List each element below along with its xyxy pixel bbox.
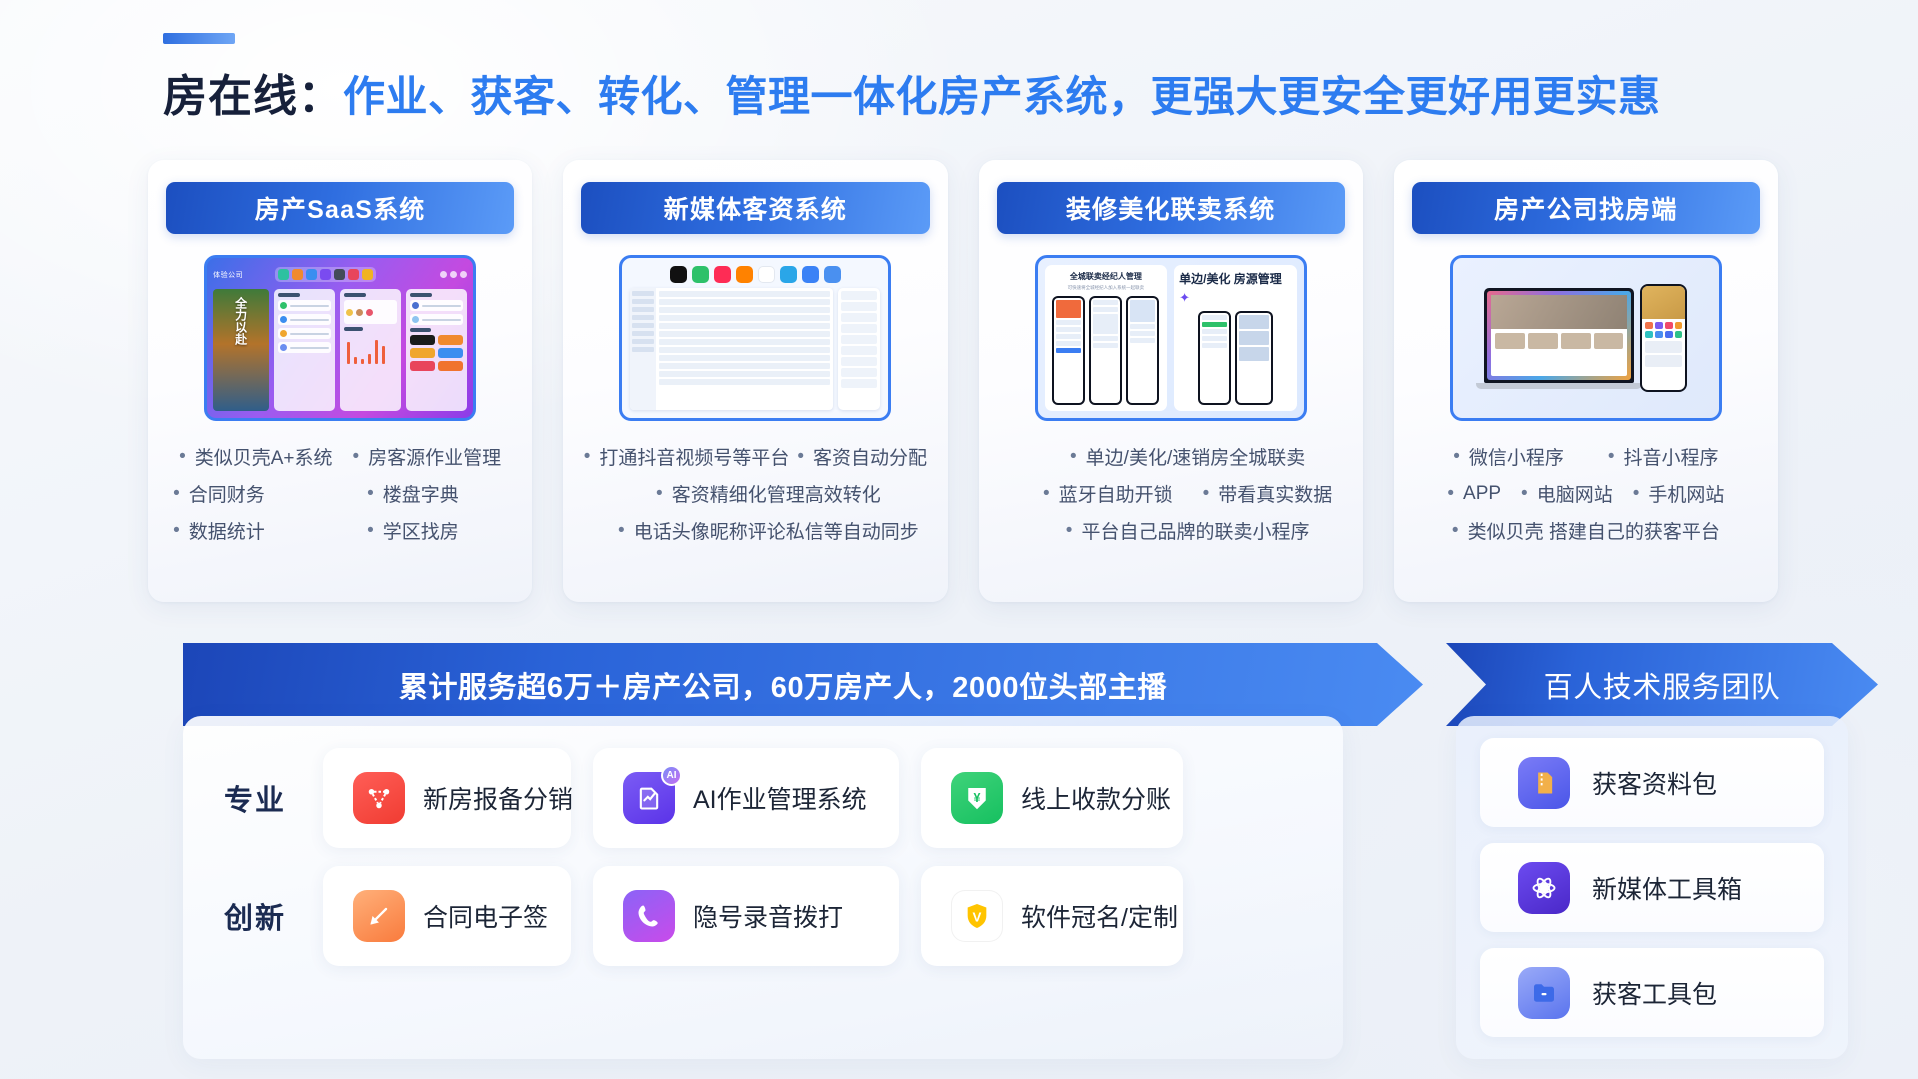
deco-left-sub: 可快速将全城经纪人加入系统一起联卖: [1068, 285, 1145, 291]
snowflake-icon: [802, 266, 819, 283]
video-icon: [780, 266, 797, 283]
bullet-row: 单边/美化/速销房全城联卖: [1036, 443, 1305, 470]
sparkle-icon: ✦: [1179, 290, 1190, 306]
product-card-decoration[interactable]: 装修美化联卖系统 全城联卖经纪人管理 可快速将全城经纪人加入系统一起联卖 单边/…: [979, 160, 1363, 602]
bullet-row: 电话头像昵称评论私信等自动同步: [592, 517, 919, 544]
bullet-item: 抖音小程序: [1608, 443, 1719, 470]
laptop-mockup: [1484, 288, 1634, 389]
dock-icon-v: [362, 269, 373, 280]
bullet-row: 类似贝壳 搭建自己的获客平台: [1452, 517, 1720, 544]
link-icon: [824, 266, 841, 283]
accent-bar: [163, 33, 235, 44]
dock-icon-home: [278, 269, 289, 280]
toolkit-chip-label: 获客工具包: [1592, 975, 1717, 1011]
card-bullets-portal: 微信小程序 抖音小程序 APP 电脑网站 手机网站 类似贝壳 搭建自己的获客平台: [1412, 443, 1760, 544]
page-title: 房在线： 作业、获客、转化、管理一体化房产系统，更强大更安全更好用更实惠: [163, 60, 1661, 124]
e-signature-pen-icon: [353, 890, 405, 942]
feature-chip-esign[interactable]: 合同电子签: [323, 866, 571, 966]
feature-chip-label: 隐号录音拨打: [693, 898, 843, 934]
svg-text:V: V: [973, 909, 982, 924]
poster-root: 房在线： 作业、获客、转化、管理一体化房产系统，更强大更安全更好用更实惠 房产S…: [0, 0, 1918, 1079]
bullet-item: 带看真实数据: [1203, 480, 1333, 507]
media-platform-screenshot: [619, 255, 891, 421]
feature-chip-label: 软件冠名/定制: [1021, 898, 1178, 934]
product-card-saas[interactable]: 房产SaaS系统 体验公司: [148, 160, 532, 602]
web-and-mobile-screenshot: [1450, 255, 1722, 421]
feature-chip-distribution[interactable]: 新房报备分销: [323, 748, 571, 848]
bullet-item: 单边/美化/速销房全城联卖: [1070, 443, 1305, 470]
bullet-item: 电话头像昵称评论私信等自动同步: [618, 517, 919, 544]
bullet-item: 客资自动分配: [797, 443, 927, 470]
kuaishou-icon: [758, 266, 775, 283]
bullet-item: 电脑网站: [1521, 480, 1613, 507]
bullet-row: 客资精细化管理高效转化: [630, 480, 881, 507]
team-banner: 百人技术服务团队: [1446, 643, 1878, 726]
title-brand: 房在线：: [163, 60, 343, 124]
atom-toolbox-icon: [1518, 862, 1570, 914]
toolkit-chip-label: 获客资料包: [1592, 765, 1717, 801]
bullet-item: 平台自己品牌的联卖小程序: [1066, 517, 1310, 544]
feature-chip-phone-record[interactable]: 隐号录音拨打: [593, 866, 899, 966]
feature-row-label: 专业: [209, 777, 301, 819]
bullet-item: 房客源作业管理: [353, 443, 502, 470]
card-title-media: 新媒体客资系统: [581, 182, 929, 234]
ai-badge: AI: [661, 765, 682, 786]
dock-icon-doc: [306, 269, 317, 280]
bullet-row: 蓝牙自助开锁 带看真实数据: [1009, 480, 1332, 507]
card-bullets-media: 打通抖音视频号等平台 客资自动分配 客资精细化管理高效转化 电话头像昵称评论私信…: [581, 443, 929, 544]
deco-right-panel: 单边/美化 房源管理 ✦: [1174, 265, 1297, 411]
dock-icon-gear: [334, 269, 345, 280]
feature-chip-label: 新房报备分销: [423, 780, 573, 816]
saas-hero-text: 全力以赴: [233, 297, 250, 345]
saas-window-dots: [440, 271, 467, 278]
card-bullets-saas: 类似贝壳A+系统 房客源作业管理 合同财务 楼盘字典 数据统计 学区找房: [166, 443, 514, 544]
stats-banner: 累计服务超6万＋房产公司，60万房产人，2000位头部主播: [183, 643, 1423, 726]
bullet-item: 客资精细化管理高效转化: [656, 480, 881, 507]
card-title-saas: 房产SaaS系统: [166, 182, 514, 234]
distribution-network-icon: [353, 772, 405, 824]
card-title-portal: 房产公司找房端: [1412, 182, 1760, 234]
toolkit-chip-materials[interactable]: 获客资料包: [1480, 738, 1824, 827]
toolkit-chip-acquisition-tools[interactable]: 获客工具包: [1480, 948, 1824, 1037]
platform-icon-strip: [630, 266, 880, 283]
deco-right-title: 单边/美化 房源管理: [1179, 271, 1282, 287]
bullet-item: 楼盘字典: [367, 480, 507, 507]
feature-chip-payment[interactable]: ¥ 线上收款分账: [921, 748, 1183, 848]
title-tagline: 作业、获客、转化、管理一体化房产系统，更强大更安全更好用更实惠: [343, 63, 1661, 124]
bullet-item: 合同财务: [173, 480, 313, 507]
bullet-item: APP: [1447, 483, 1501, 505]
bullet-item: 类似贝壳A+系统: [179, 443, 332, 470]
phone-record-icon: [623, 890, 675, 942]
saas-dashboard-screenshot: 体验公司 全力以赴: [204, 255, 476, 421]
dock-icon-grid: [348, 269, 359, 280]
product-cards-row: 房产SaaS系统 体验公司: [148, 160, 1778, 602]
bullet-row: 微信小程序 抖音小程序: [1453, 443, 1718, 470]
media-desktop-window: [630, 288, 833, 410]
toolkits-panel: 获客资料包 新媒体工具箱 获客工具包: [1456, 716, 1848, 1059]
bullet-row: 类似贝壳A+系统 房客源作业管理: [179, 443, 501, 470]
feature-row-innovation: 创新 合同电子签 隐号录音拨打: [209, 866, 1317, 966]
feature-chip-label: AI作业管理系统: [693, 780, 867, 816]
feature-chip-branding[interactable]: V 软件冠名/定制: [921, 866, 1183, 966]
phone-mockup: [1640, 284, 1687, 392]
bullet-item: 类似贝壳 搭建自己的获客平台: [1452, 517, 1720, 544]
card-bullets-decoration: 单边/美化/速销房全城联卖 蓝牙自助开锁 带看真实数据 平台自己品牌的联卖小程序: [997, 443, 1345, 544]
product-card-media[interactable]: 新媒体客资系统: [563, 160, 947, 602]
folder-toolkit-icon: [1518, 967, 1570, 1019]
saas-panel-accounts: [406, 289, 467, 411]
douyin-icon: [670, 266, 687, 283]
bullet-row: APP 电脑网站 手机网站: [1447, 480, 1724, 507]
bullet-item: 手机网站: [1633, 480, 1725, 507]
ai-document-pen-icon: AI: [623, 772, 675, 824]
bullet-item: 微信小程序: [1453, 443, 1564, 470]
decoration-screenshot: 全城联卖经纪人管理 可快速将全城经纪人加入系统一起联卖 单边/美化 房源管理 ✦: [1035, 255, 1307, 421]
bullet-item: 数据统计: [173, 517, 313, 544]
bullet-row: 合同财务 楼盘字典: [173, 480, 507, 507]
saas-dock: [275, 267, 376, 282]
bullet-item: 学区找房: [367, 517, 507, 544]
feature-chip-ai-work[interactable]: AI AI作业管理系统: [593, 748, 899, 848]
deco-left-panel: 全城联卖经纪人管理 可快速将全城经纪人加入系统一起联卖: [1045, 265, 1168, 411]
toolkit-chip-media-tools[interactable]: 新媒体工具箱: [1480, 843, 1824, 932]
product-card-portal[interactable]: 房产公司找房端: [1394, 160, 1778, 602]
saas-brand-label: 体验公司: [213, 270, 243, 280]
saas-panel-news: [274, 289, 335, 411]
file-package-icon: [1518, 757, 1570, 809]
saas-panel-ranking: [340, 289, 401, 411]
feature-chip-label: 合同电子签: [423, 898, 548, 934]
feature-chip-label: 线上收款分账: [1021, 780, 1171, 816]
feature-row-professional: 专业 新房报备分销: [209, 748, 1317, 848]
bullet-item: 蓝牙自助开锁: [1043, 480, 1173, 507]
deco-left-title: 全城联卖经纪人管理: [1070, 271, 1142, 282]
yuan-payment-icon: ¥: [951, 772, 1003, 824]
bullet-row: 打通抖音视频号等平台 客资自动分配: [584, 443, 927, 470]
saas-hero-banner: 全力以赴: [213, 289, 269, 411]
weibo-icon: [736, 266, 753, 283]
dock-icon-user: [292, 269, 303, 280]
wechat-icon: [692, 266, 709, 283]
svg-text:¥: ¥: [974, 791, 981, 805]
card-title-decoration: 装修美化联卖系统: [997, 182, 1345, 234]
bullet-row: 数据统计 学区找房: [173, 517, 507, 544]
feature-row-label: 创新: [209, 895, 301, 937]
toolkit-chip-label: 新媒体工具箱: [1592, 870, 1742, 906]
media-mobile-preview: [838, 288, 880, 410]
bullet-row: 平台自己品牌的联卖小程序: [1032, 517, 1310, 544]
bullet-item: 打通抖音视频号等平台: [584, 443, 790, 470]
dock-icon-h: [320, 269, 331, 280]
xiaohongshu-icon: [714, 266, 731, 283]
features-panel: 专业 新房报备分销: [183, 716, 1343, 1059]
shield-v-icon: V: [951, 890, 1003, 942]
